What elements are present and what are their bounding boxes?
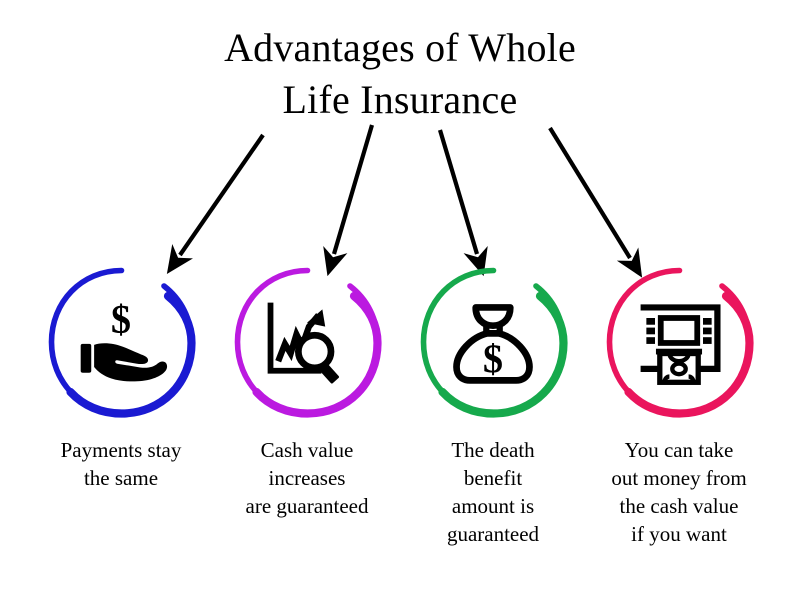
hand-holding-dollar-icon: $ — [41, 262, 201, 422]
advantage-item-payments-stay-the-same[interactable]: $ Payments stay the same — [28, 262, 214, 492]
caption-line: the cash value — [611, 492, 746, 520]
caption-line: Cash value — [246, 436, 369, 464]
badge-cash-value-increases — [227, 262, 387, 422]
arrow-to-item-1 — [180, 135, 263, 255]
caption-cash-value-increases: Cash value increases are guaranteed — [246, 436, 369, 520]
badge-death-benefit-guaranteed: $ — [413, 262, 573, 422]
caption-line: increases — [246, 464, 369, 492]
money-bag-icon: $ — [413, 262, 573, 422]
caption-line: You can take — [611, 436, 746, 464]
svg-text:$: $ — [111, 296, 131, 341]
title-line-1: Advantages of Whole — [0, 22, 800, 74]
caption-line: The death — [447, 436, 539, 464]
caption-line: if you want — [611, 520, 746, 548]
page-title: Advantages of Whole Life Insurance — [0, 22, 800, 126]
advantage-item-cash-value-increases[interactable]: Cash value increases are guaranteed — [214, 262, 400, 520]
advantage-item-death-benefit-guaranteed[interactable]: $ The death benefit amount is guaranteed — [400, 262, 586, 548]
svg-text:$: $ — [483, 336, 503, 381]
caption-payments-stay-the-same: Payments stay the same — [61, 436, 182, 492]
caption-line: Payments stay — [61, 436, 182, 464]
atm-machine-icon — [599, 262, 759, 422]
caption-death-benefit-guaranteed: The death benefit amount is guaranteed — [447, 436, 539, 548]
caption-take-out-money: You can take out money from the cash val… — [611, 436, 746, 548]
caption-line: the same — [61, 464, 182, 492]
arrow-to-item-2 — [334, 125, 372, 254]
infographic-canvas: Advantages of Whole Life Insurance — [0, 0, 800, 600]
caption-line: amount is — [447, 492, 539, 520]
badge-take-out-money — [599, 262, 759, 422]
caption-line: benefit — [447, 464, 539, 492]
caption-line: out money from — [611, 464, 746, 492]
advantages-list: $ Payments stay the same — [0, 262, 800, 592]
arrow-to-item-3 — [440, 130, 477, 254]
arrow-to-item-4 — [550, 128, 630, 258]
caption-line: guaranteed — [447, 520, 539, 548]
caption-line: are guaranteed — [246, 492, 369, 520]
title-line-2: Life Insurance — [0, 74, 800, 126]
badge-payments-stay-the-same: $ — [41, 262, 201, 422]
advantage-item-take-out-money[interactable]: You can take out money from the cash val… — [586, 262, 772, 548]
growth-chart-magnifier-icon — [227, 262, 387, 422]
